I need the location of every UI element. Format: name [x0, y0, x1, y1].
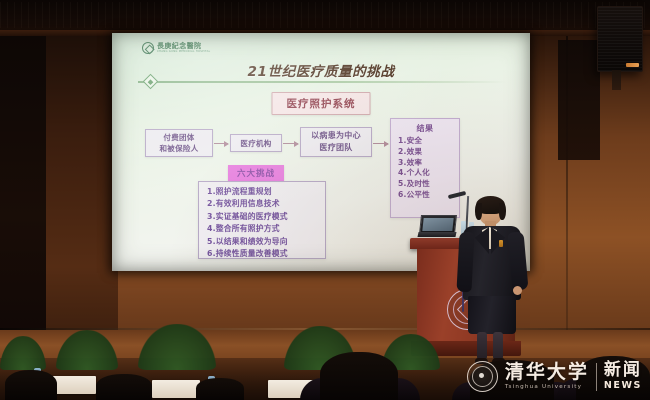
- potted-plant: [56, 330, 118, 370]
- watermark-divider: [596, 363, 597, 391]
- flow-box-team: 以病患为中心 医疗团队: [300, 127, 372, 157]
- challenge-item: 3.实证基础的医疗模式: [207, 211, 325, 223]
- speaker-grille: [598, 7, 642, 71]
- result-item: 4.个人化: [398, 168, 459, 179]
- watermark-university-en: Tsinghua University: [505, 385, 589, 391]
- stage-drape-right: [558, 40, 600, 160]
- flow-arrow-3: [373, 143, 388, 144]
- name-placard: [152, 380, 200, 398]
- potted-plant: [138, 324, 216, 370]
- tsinghua-emblem-icon: [467, 361, 498, 392]
- watermark-news-en: NEWS: [604, 381, 642, 391]
- audience-head: [196, 378, 244, 400]
- laptop-screen: [422, 218, 453, 231]
- flow-box-payer-line1: 付费团体: [160, 132, 199, 143]
- challenge-item: 5.以结果和绩效为导向: [207, 236, 325, 248]
- flow-box-team-line1: 以病患为中心: [311, 130, 361, 142]
- flow-box-institution: 医疗机构: [230, 134, 282, 152]
- challenge-item: 1.照护流程重规划: [207, 186, 325, 198]
- speaker-led: [626, 63, 639, 67]
- speaker-mount: [612, 70, 621, 90]
- title-divider: [138, 81, 506, 83]
- laptop-base: [417, 232, 456, 237]
- watermark-news-cn: 新闻: [604, 362, 642, 379]
- watermark-news: 新闻 NEWS: [604, 362, 642, 391]
- presenter-leg-right: [493, 332, 503, 360]
- hospital-logo-en: CHANG GUNG MEMORIAL HOSPITAL: [157, 51, 210, 54]
- stage-drape-left: [0, 36, 46, 336]
- flow-box-team-line2: 医疗团队: [311, 142, 361, 154]
- lapel-badge-icon: [499, 240, 503, 247]
- challenge-item: 2.有效利用信息技术: [207, 198, 325, 210]
- results-title: 结果: [391, 123, 459, 134]
- audience-head: [320, 352, 398, 400]
- result-item: 2.效果: [398, 147, 459, 158]
- flow-arrow-2: [283, 143, 298, 144]
- ceiling-slats: [0, 2, 650, 28]
- results-list: 1.安全 2.效果 3.效率 4.个人化 5.及时性 6.公平性: [391, 136, 459, 201]
- hospital-logo-cn: 長庚紀念醫院: [157, 43, 210, 50]
- watermark-university-cn: 清华大学: [505, 363, 589, 382]
- audience-head: [96, 374, 152, 400]
- watermark: 清华大学 Tsinghua University 新闻 NEWS: [467, 361, 642, 392]
- presenter-skirt: [468, 296, 516, 334]
- photo-stage: 長庚紀念醫院 CHANG GUNG MEMORIAL HOSPITAL 21世纪…: [0, 0, 650, 400]
- presenter-leg-left: [477, 332, 487, 360]
- flow-box-payer-line2: 和被保险人: [160, 143, 199, 154]
- loudspeaker-icon: [597, 6, 643, 72]
- presenter: [455, 196, 531, 366]
- results-panel: 结果 1.安全 2.效果 3.效率 4.个人化 5.及时性 6.公平性: [390, 118, 460, 218]
- slide-subtitle: 医疗照护系统: [272, 92, 371, 115]
- hospital-logo-text: 長庚紀念醫院 CHANG GUNG MEMORIAL HOSPITAL: [157, 43, 210, 54]
- presenter-hand: [513, 286, 522, 295]
- result-item: 3.效率: [398, 158, 459, 169]
- audience-head: [5, 370, 57, 400]
- watermark-university: 清华大学 Tsinghua University: [505, 363, 589, 391]
- hospital-logo: 長庚紀念醫院 CHANG GUNG MEMORIAL HOSPITAL: [142, 42, 210, 54]
- challenge-item: 4.整合所有照护方式: [207, 223, 325, 235]
- challenges-list: 1.照护流程重规划 2.有效利用信息技术 3.实证基础的医疗模式 4.整合所有照…: [207, 186, 325, 261]
- flow-arrow-1: [214, 143, 228, 144]
- result-item: 1.安全: [398, 136, 459, 147]
- presenter-arm-left: [456, 232, 474, 293]
- challenges-tag: 六大挑战: [228, 165, 284, 181]
- challenge-item: 6.持续性质量改善模式: [207, 248, 325, 260]
- presenter-hair-left: [475, 203, 482, 220]
- presenter-hair-right: [499, 203, 506, 220]
- potted-plant: [0, 336, 46, 370]
- challenges-panel: 1.照护流程重规划 2.有效利用信息技术 3.实证基础的医疗模式 4.整合所有照…: [198, 181, 326, 259]
- slide-title: 21世纪医疗质量的挑战: [112, 60, 530, 80]
- hospital-logo-icon: [142, 42, 154, 54]
- flow-box-payer: 付费团体 和被保险人: [145, 129, 213, 157]
- result-item: 5.及时性: [398, 179, 459, 190]
